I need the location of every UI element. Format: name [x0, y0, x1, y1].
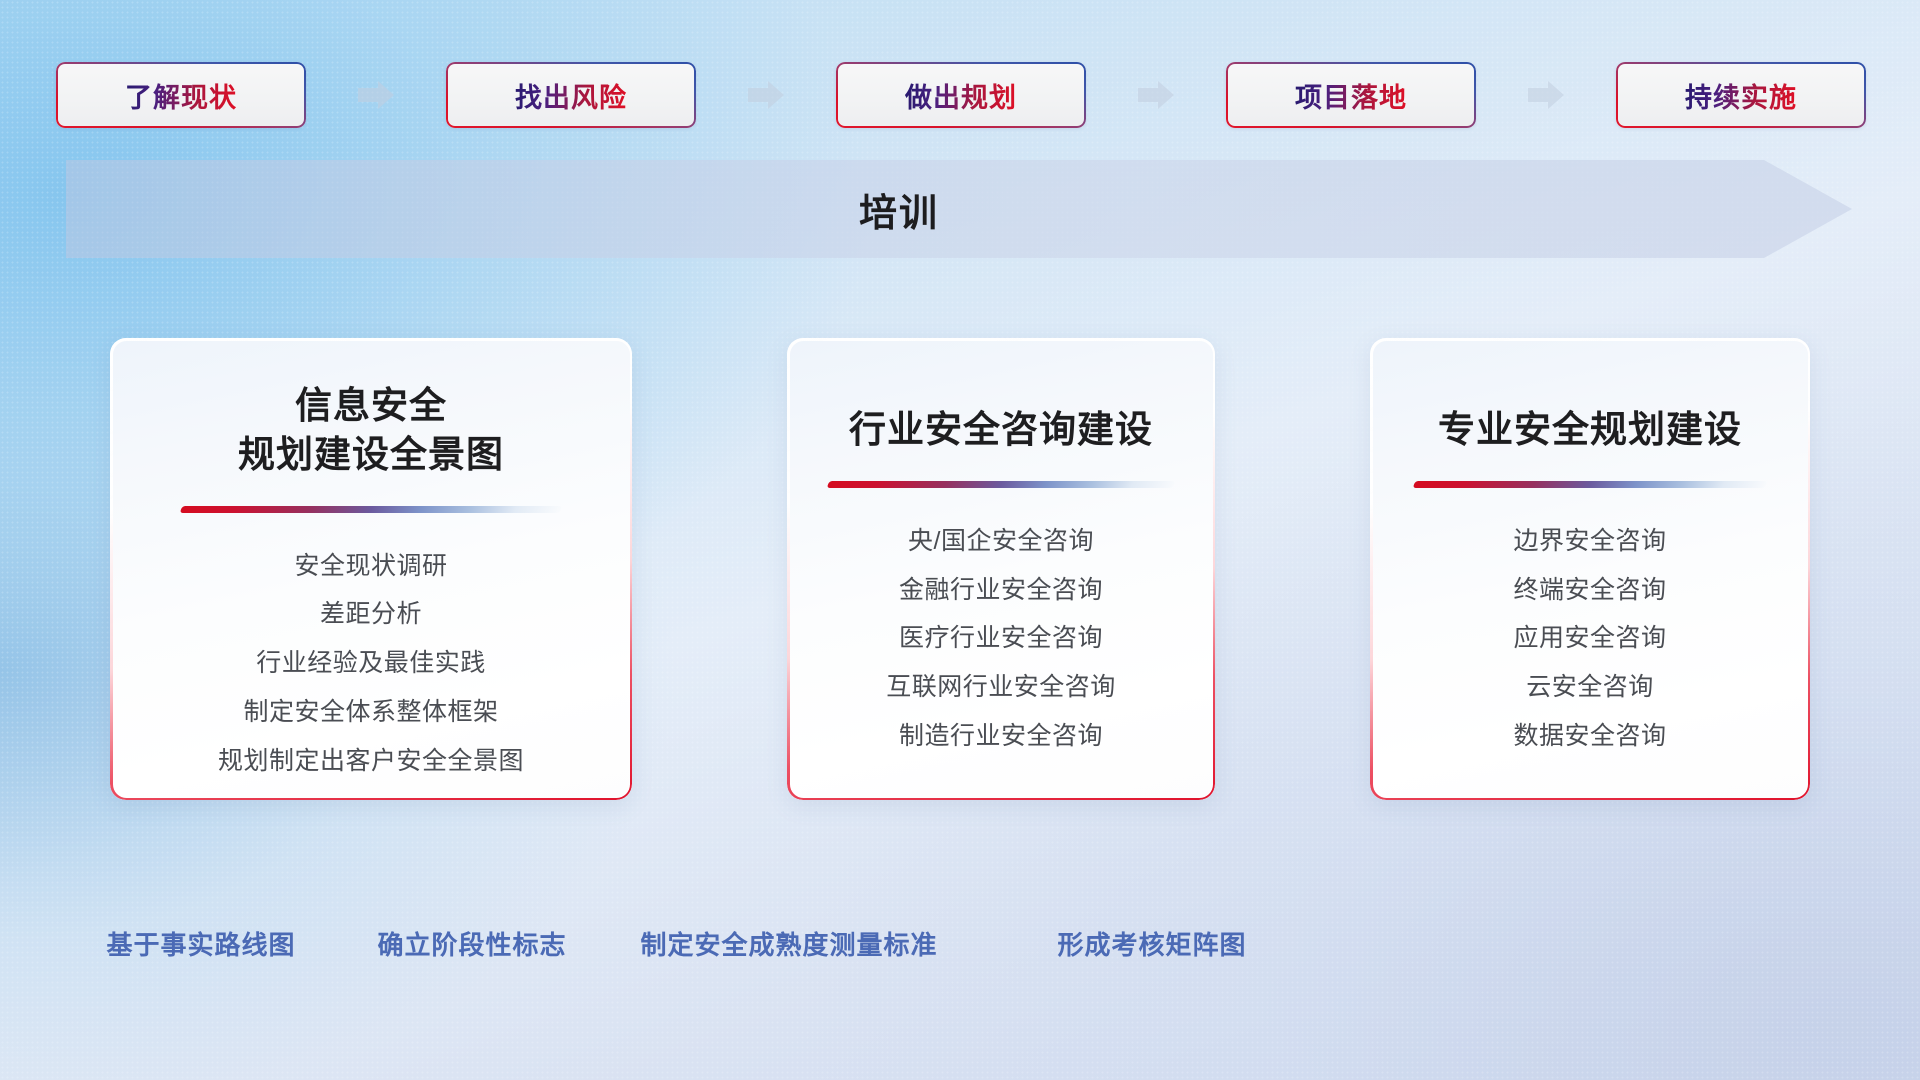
flow-step-4[interactable]: 项目落地: [1226, 62, 1476, 128]
list-item: 规划制定出客户安全全景图: [218, 742, 524, 781]
card-divider: [827, 481, 1176, 488]
flow-step-5-label: 持续实施: [1685, 76, 1797, 115]
list-item: 应用安全咨询: [1513, 619, 1666, 658]
list-item: 差距分析: [320, 595, 422, 634]
card-title: 专业安全规划建设: [1438, 406, 1742, 455]
footer-label-2: 确立阶段性标志: [377, 925, 566, 962]
slide-canvas: 了解现状 找出风险 做出规划 项目落地: [0, 0, 1920, 1080]
card-title: 行业安全咨询建设: [849, 406, 1153, 455]
card-title: 信息安全 规划建设全景图: [238, 382, 504, 480]
list-item: 终端安全咨询: [1513, 571, 1666, 610]
card-professional-security-planning[interactable]: 专业安全规划建设 边界安全咨询 终端安全咨询 应用安全咨询 云安全咨询 数据安全…: [1370, 338, 1810, 800]
list-item: 医疗行业安全咨询: [899, 619, 1103, 658]
footer-label-3: 制定安全成熟度测量标准: [640, 925, 937, 962]
card-divider: [180, 506, 563, 513]
list-item: 云安全咨询: [1526, 668, 1654, 707]
card-list: 边界安全咨询 终端安全咨询 应用安全咨询 云安全咨询 数据安全咨询: [1513, 522, 1666, 756]
list-item: 安全现状调研: [294, 547, 447, 586]
list-item: 制造行业安全咨询: [899, 717, 1103, 756]
flow-step-1[interactable]: 了解现状: [56, 62, 306, 128]
list-item: 互联网行业安全咨询: [886, 668, 1116, 707]
list-item: 行业经验及最佳实践: [256, 644, 486, 683]
arrow-right-icon: [358, 79, 394, 111]
footer-label-1: 基于事实路线图: [106, 925, 295, 962]
card-divider: [1413, 481, 1768, 488]
card-list: 央/国企安全咨询 金融行业安全咨询 医疗行业安全咨询 互联网行业安全咨询 制造行…: [886, 522, 1116, 756]
flow-step-2-label: 找出风险: [515, 76, 627, 115]
flow-step-4-label: 项目落地: [1295, 76, 1407, 115]
flow-step-5[interactable]: 持续实施: [1616, 62, 1866, 128]
banner-title: 培训: [66, 160, 1732, 258]
training-banner: 培训: [66, 160, 1852, 258]
process-flow-row: 了解现状 找出风险 做出规划 项目落地: [56, 61, 1866, 129]
footer-label-4: 形成考核矩阵图: [1057, 925, 1246, 962]
flow-step-1-label: 了解现状: [125, 76, 237, 115]
flow-step-3[interactable]: 做出规划: [836, 62, 1086, 128]
arrow-right-icon: [748, 79, 784, 111]
flow-step-2[interactable]: 找出风险: [446, 62, 696, 128]
card-industry-security-consulting[interactable]: 行业安全咨询建设 央/国企安全咨询 金融行业安全咨询 医疗行业安全咨询 互联网行…: [787, 338, 1215, 800]
list-item: 边界安全咨询: [1513, 522, 1666, 561]
card-information-security-blueprint[interactable]: 信息安全 规划建设全景图 安全现状调研 差距分析 行业经验及最佳实践 制定安全体…: [110, 338, 632, 800]
arrow-right-icon: [1528, 79, 1564, 111]
flow-step-3-label: 做出规划: [905, 76, 1017, 115]
arrow-right-icon: [1138, 79, 1174, 111]
list-item: 制定安全体系整体框架: [243, 693, 498, 732]
card-group: 信息安全 规划建设全景图 安全现状调研 差距分析 行业经验及最佳实践 制定安全体…: [110, 338, 1810, 800]
card-list: 安全现状调研 差距分析 行业经验及最佳实践 制定安全体系整体框架 规划制定出客户…: [218, 547, 524, 781]
list-item: 数据安全咨询: [1513, 717, 1666, 756]
list-item: 金融行业安全咨询: [899, 571, 1103, 610]
footer-label-row: 基于事实路线图 确立阶段性标志 制定安全成熟度测量标准 形成考核矩阵图: [0, 925, 1920, 969]
list-item: 央/国企安全咨询: [908, 522, 1094, 561]
